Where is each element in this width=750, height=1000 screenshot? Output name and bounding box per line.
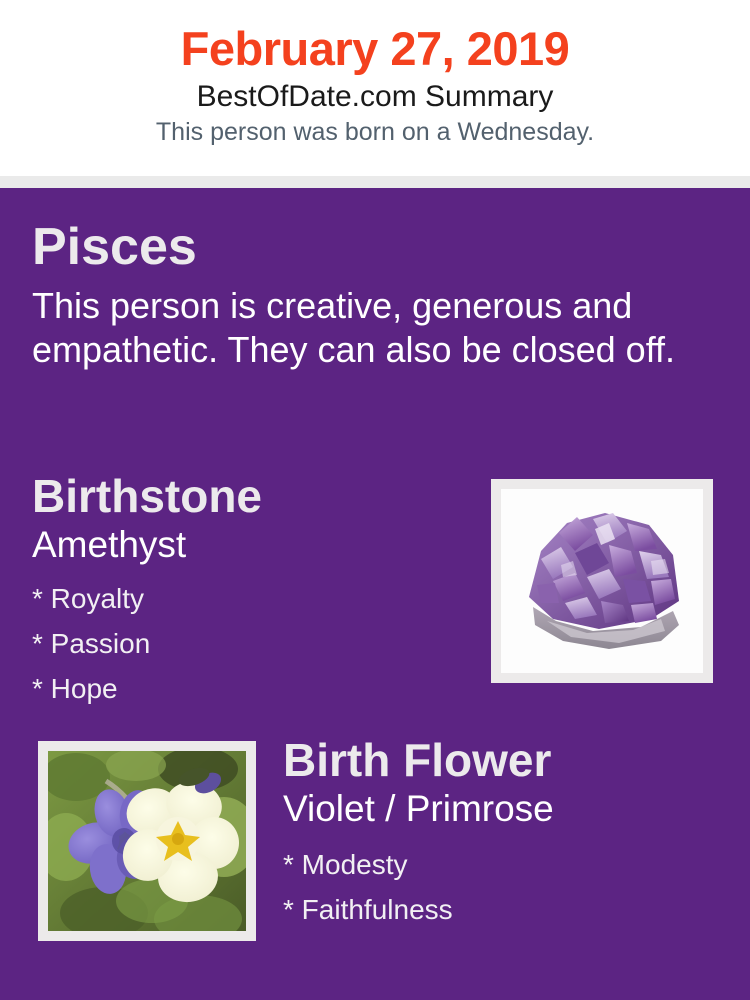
list-item: * Passion [32, 621, 462, 666]
birth-flower-heading: Birth Flower [283, 734, 723, 786]
header-divider [0, 176, 750, 188]
list-item: * Faithfulness [283, 887, 723, 932]
birth-flower-trait-list: * Modesty * Faithfulness [283, 830, 723, 932]
page-title-date: February 27, 2019 [0, 0, 750, 73]
birthstone-trait-list: * Royalty * Passion * Hope [32, 566, 462, 711]
day-of-week-note: This person was born on a Wednesday. [0, 113, 750, 147]
birthstone-section: Birthstone Amethyst * Royalty * Passion … [32, 470, 462, 711]
list-item: * Royalty [32, 576, 462, 621]
header: February 27, 2019 BestOfDate.com Summary… [0, 0, 750, 176]
zodiac-sign-heading: Pisces [32, 218, 718, 276]
birthstone-heading: Birthstone [32, 470, 462, 522]
birthstone-photo-frame [491, 479, 713, 683]
zodiac-description: This person is creative, generous and em… [32, 276, 718, 372]
list-item: * Modesty [283, 842, 723, 887]
birth-flower-section: Birth Flower Violet / Primrose * Modesty… [283, 734, 723, 932]
site-name: BestOfDate.com Summary [0, 73, 750, 113]
list-item: * Hope [32, 666, 462, 711]
amethyst-photo [501, 489, 703, 673]
zodiac-section: Pisces This person is creative, generous… [32, 218, 718, 372]
birth-flower-name: Violet / Primrose [283, 786, 723, 830]
violet-primrose-photo [48, 751, 246, 931]
birthstone-name: Amethyst [32, 522, 462, 566]
summary-card: February 27, 2019 BestOfDate.com Summary… [0, 0, 750, 1000]
birth-flower-photo-frame [38, 741, 256, 941]
